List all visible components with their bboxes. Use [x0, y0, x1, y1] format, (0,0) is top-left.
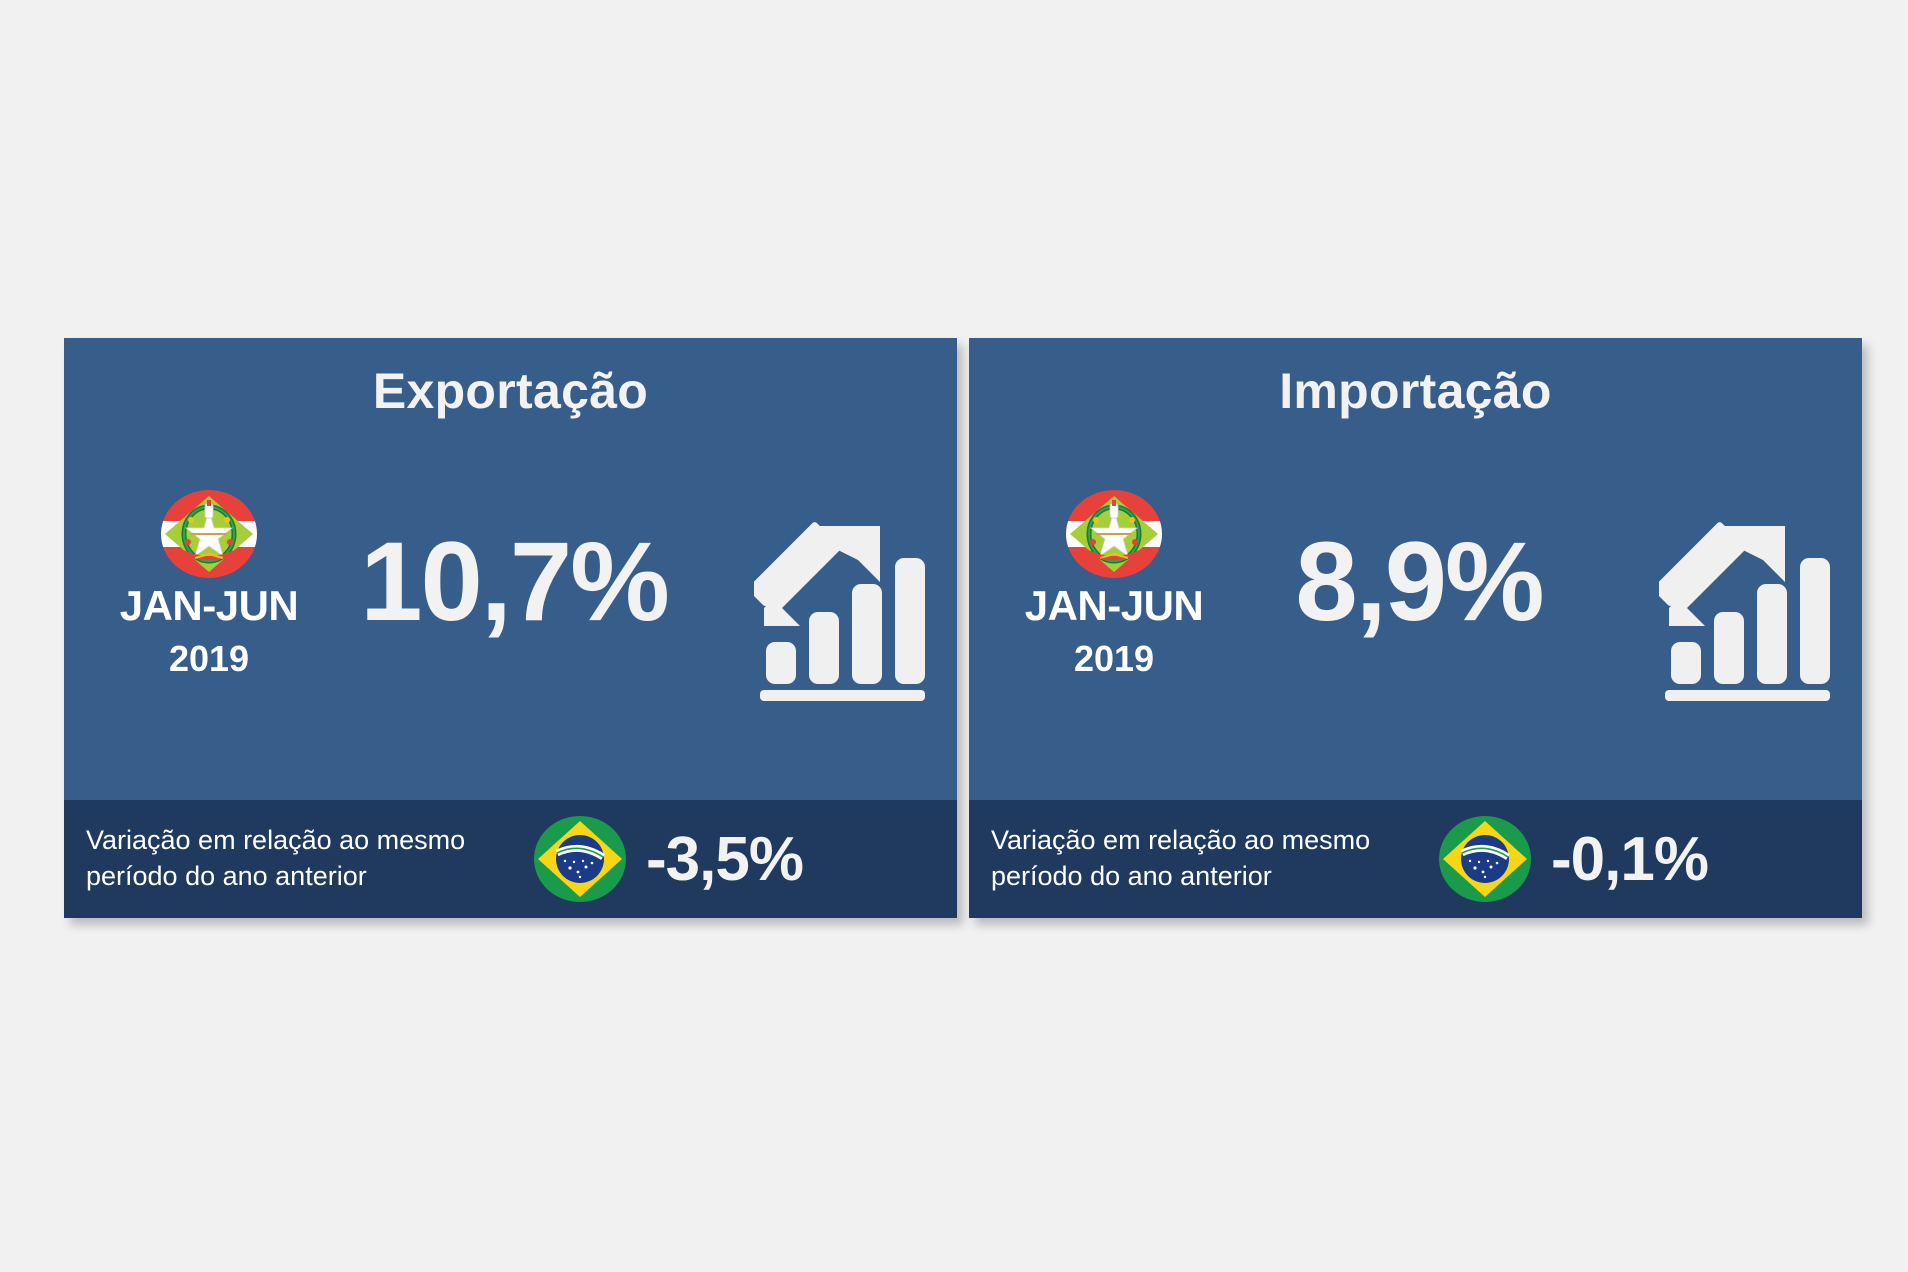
- growth-bar-chart-up-arrow-icon: [1659, 522, 1835, 702]
- santa-catarina-flag-icon: [1066, 490, 1162, 578]
- period-label: JAN-JUN: [989, 584, 1239, 628]
- footer-note-line-2: período do ano anterior: [86, 861, 367, 891]
- headline-value: 8,9%: [1224, 526, 1614, 638]
- card-footer: Variação em relação ao mesmo período do …: [969, 800, 1862, 918]
- period-year: 2019: [84, 636, 334, 683]
- period-label: JAN-JUN: [84, 584, 334, 628]
- card-title: Importação: [969, 364, 1862, 419]
- period-year: 2019: [989, 636, 1239, 683]
- infographic-stage: Exportação: [0, 0, 1908, 1272]
- period-block: JAN-JUN 2019: [84, 490, 334, 683]
- period-block: JAN-JUN 2019: [989, 490, 1239, 683]
- card-body: JAN-JUN 2019 8,9%: [969, 430, 1862, 785]
- footer-note-line-2: período do ano anterior: [991, 861, 1272, 891]
- footer-note-line-1: Variação em relação ao mesmo: [86, 825, 465, 855]
- card-body: JAN-JUN 2019 10,7%: [64, 430, 957, 785]
- card-importacao: Importação: [969, 338, 1862, 918]
- footer-note: Variação em relação ao mesmo período do …: [64, 823, 534, 894]
- brazil-flag-icon: [534, 816, 626, 902]
- card-exportacao: Exportação: [64, 338, 957, 918]
- brazil-flag-icon: [1439, 816, 1531, 902]
- footer-variation-value: -0,1%: [1551, 824, 1708, 895]
- santa-catarina-flag-icon: [161, 490, 257, 578]
- card-footer: Variação em relação ao mesmo período do …: [64, 800, 957, 918]
- footer-note-line-1: Variação em relação ao mesmo: [991, 825, 1370, 855]
- headline-value: 10,7%: [319, 526, 709, 638]
- growth-bar-chart-up-arrow-icon: [754, 522, 930, 702]
- card-title: Exportação: [64, 364, 957, 419]
- footer-note: Variação em relação ao mesmo período do …: [969, 823, 1439, 894]
- footer-variation-value: -3,5%: [646, 824, 803, 895]
